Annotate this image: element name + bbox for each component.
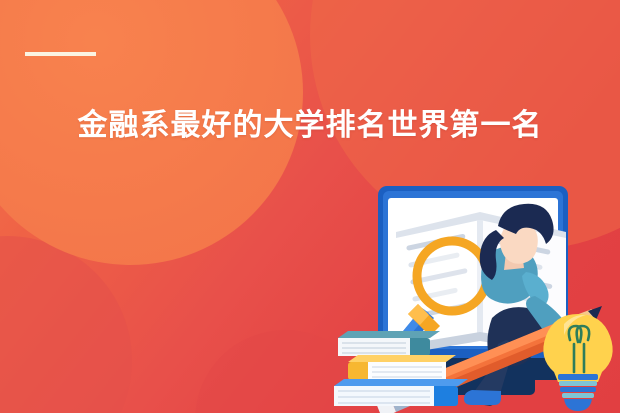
accent-rule [25, 52, 96, 56]
page-title: 金融系最好的大学排名世界第一名 [0, 107, 620, 145]
lightbulb [543, 314, 612, 411]
banner-card: 金融系最好的大学排名世界第一名 [0, 0, 620, 413]
book-yellow [348, 355, 456, 380]
book-teal [338, 331, 440, 356]
background-blob-bottom-left [0, 236, 132, 413]
person-shoe [464, 390, 501, 405]
online-research-illustration [330, 168, 620, 413]
lightbulb-base [558, 374, 598, 411]
magnifier-lens [422, 246, 482, 306]
book-blue [334, 379, 468, 406]
